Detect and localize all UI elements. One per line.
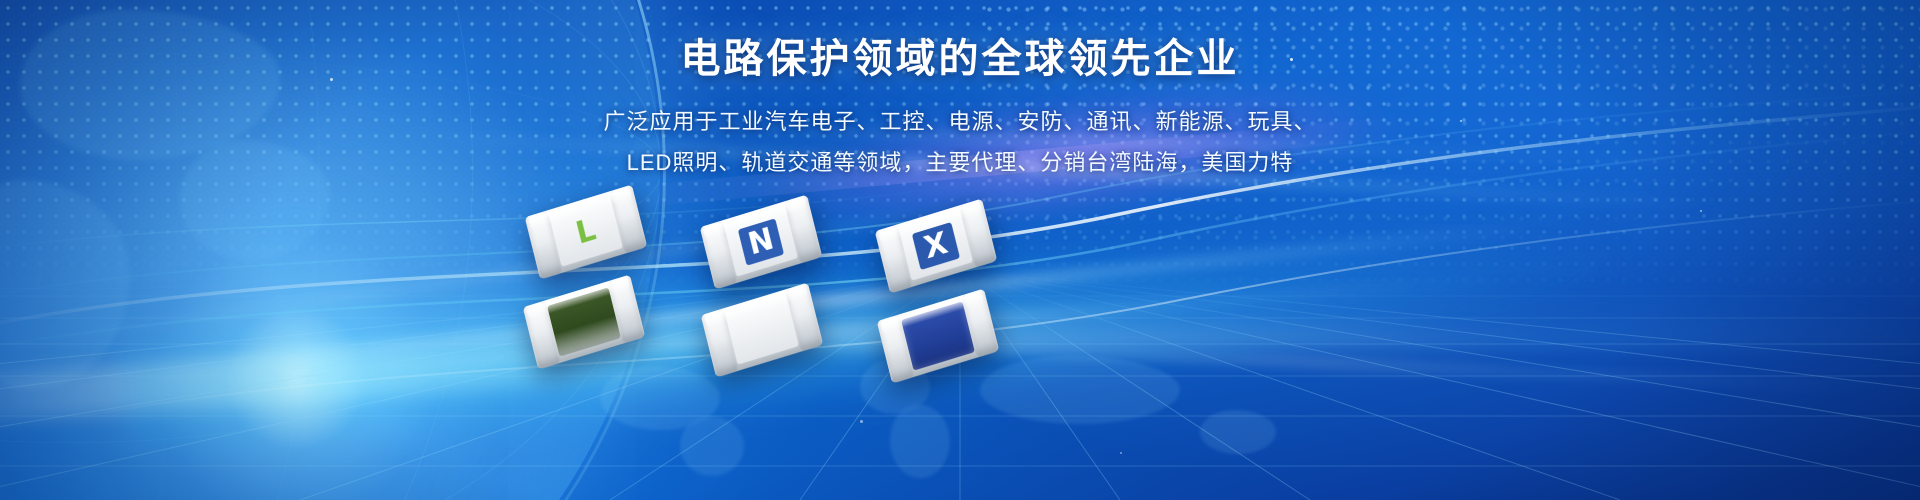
banner-copy: 电路保护领域的全球领先企业 广泛应用于工业汽车电子、工控、电源、安防、通讯、新能… — [0, 36, 1920, 183]
chip-fuse-green — [523, 275, 646, 370]
chip-fuse-n: N — [700, 195, 823, 290]
chip-fuse-l: L — [525, 185, 648, 280]
banner-subtitle-line-1: 广泛应用于工业汽车电子、工控、电源、安防、通讯、新能源、玩具、 — [0, 102, 1920, 143]
chip-fuse-blue — [877, 289, 1000, 384]
banner-subtitle-line-2: LED照明、轨道交通等领域，主要代理、分销台湾陆海，美国力特 — [0, 143, 1920, 184]
chip-fuse-x: X — [875, 199, 998, 294]
banner-subtitle: 广泛应用于工业汽车电子、工控、电源、安防、通讯、新能源、玩具、 LED照明、轨道… — [0, 102, 1920, 183]
chip-fuse-blank — [701, 283, 824, 378]
hero-banner: 电路保护领域的全球领先企业 广泛应用于工业汽车电子、工控、电源、安防、通讯、新能… — [0, 0, 1920, 500]
banner-headline: 电路保护领域的全球领先企业 — [0, 36, 1920, 82]
product-chips: L N X — [0, 190, 1920, 390]
